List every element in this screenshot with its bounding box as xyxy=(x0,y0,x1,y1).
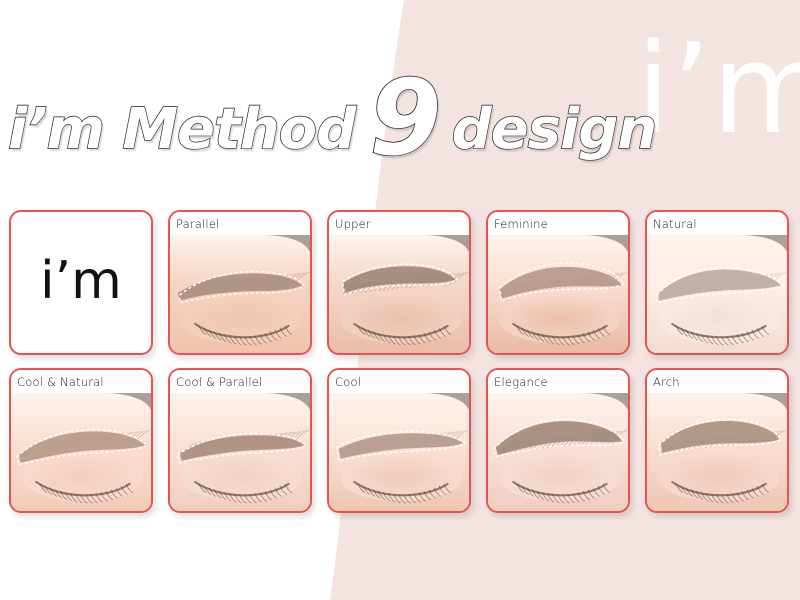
design-card-upper[interactable]: Upper xyxy=(327,210,471,355)
eyebrow-photo xyxy=(170,393,310,511)
card-label-bar: Natural xyxy=(647,212,787,235)
title-suffix-text: design xyxy=(452,102,657,158)
design-card-cool-natural[interactable]: Cool & Natural xyxy=(9,368,153,513)
eyebrow-photo xyxy=(11,393,151,511)
card-label-bar: Elegance xyxy=(488,370,628,393)
design-card-cool[interactable]: Cool xyxy=(327,368,471,513)
eyebrow-photo xyxy=(647,235,787,353)
card-label-text: Arch xyxy=(653,375,680,389)
eyebrow-photo xyxy=(488,393,628,511)
brand-card[interactable]: i’m xyxy=(9,210,153,355)
card-label-text: Parallel xyxy=(176,217,220,231)
card-label-bar: Cool xyxy=(329,370,469,393)
design-card-elegance[interactable]: Elegance xyxy=(486,368,630,513)
brand-watermark: i’m xyxy=(636,28,800,152)
title-main-text: i’m Method xyxy=(8,102,355,158)
header: i’m i’m Method 9 design xyxy=(0,0,800,200)
page-title: i’m Method 9 design xyxy=(8,60,648,160)
design-card-arch[interactable]: Arch xyxy=(645,368,789,513)
eyebrow-photo xyxy=(488,235,628,353)
design-card-parallel[interactable]: Parallel xyxy=(168,210,312,355)
design-card-feminine[interactable]: Feminine xyxy=(486,210,630,355)
eyebrow-photo xyxy=(647,393,787,511)
brand-logo-text: i’m xyxy=(40,255,122,307)
eyebrow-photo xyxy=(329,393,469,511)
card-label-bar: Arch xyxy=(647,370,787,393)
card-label-bar: Cool & Natural xyxy=(11,370,151,393)
card-label-text: Upper xyxy=(335,217,371,231)
eyebrow-photo xyxy=(329,235,469,353)
card-label-text: Cool xyxy=(335,375,361,389)
title-number-nine: 9 xyxy=(369,66,439,170)
design-card-natural[interactable]: Natural xyxy=(645,210,789,355)
card-label-text: Cool & Parallel xyxy=(176,375,262,389)
card-label-bar: Feminine xyxy=(488,212,628,235)
card-label-bar: Upper xyxy=(329,212,469,235)
card-label-text: Cool & Natural xyxy=(17,375,104,389)
card-label-text: Feminine xyxy=(494,217,548,231)
design-card-grid: i’mParallelUpperFeminineNaturalCool & Na… xyxy=(9,210,791,515)
card-label-text: Elegance xyxy=(494,375,548,389)
card-label-text: Natural xyxy=(653,217,697,231)
card-label-bar: Cool & Parallel xyxy=(170,370,310,393)
card-label-bar: Parallel xyxy=(170,212,310,235)
eyebrow-photo xyxy=(170,235,310,353)
poster-root: i’m i’m Method 9 design i’mParallelUpper… xyxy=(0,0,800,600)
design-card-cool-parallel[interactable]: Cool & Parallel xyxy=(168,368,312,513)
